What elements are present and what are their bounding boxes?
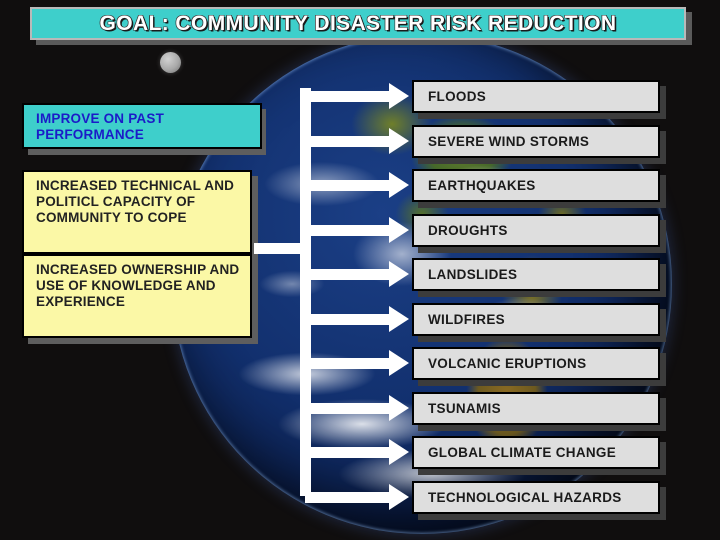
arrow-head-icon [389,172,409,198]
slide-canvas: GOAL: COMMUNITY DISASTER RISK REDUCTION … [0,0,720,540]
hazard-item-droughts[interactable]: DROUGHTS [412,214,660,247]
hazard-item-tsunamis[interactable]: TSUNAMIS [412,392,660,425]
arrow-arm [305,136,390,147]
hazard-item-label: VOLCANIC ERUPTIONS [428,356,586,371]
hazard-item-earthquakes[interactable]: EARTHQUAKES [412,169,660,202]
hazard-item-label: TSUNAMIS [428,401,501,416]
hazard-item-technological-hazards[interactable]: TECHNOLOGICAL HAZARDS [412,481,660,514]
arrow-arm [305,403,390,414]
arrow-tree-trunk [300,88,311,496]
hazard-item-floods[interactable]: FLOODS [412,80,660,113]
arrow-head-icon [389,128,409,154]
hazard-item-volcanic-eruptions[interactable]: VOLCANIC ERUPTIONS [412,347,660,380]
arrow-arm [305,91,390,102]
moon [160,52,181,73]
hazard-item-label: GLOBAL CLIMATE CHANGE [428,445,616,460]
arrow-arm [305,447,390,458]
hazard-item-label: EARTHQUAKES [428,178,536,193]
arrow-arm [305,269,390,280]
hazard-item-label: DROUGHTS [428,223,508,238]
arrow-head-icon [389,217,409,243]
arrow-head-icon [389,439,409,465]
outcome-box-2: INCREASED OWNERSHIP AND USE OF KNOWLEDGE… [22,254,252,338]
outcome-box-2-text: INCREASED OWNERSHIP AND USE OF KNOWLEDGE… [36,262,241,309]
arrow-head-icon [389,306,409,332]
outcome-box-1-text: INCREASED TECHNICAL AND POLITICL CAPACIT… [36,178,241,225]
arrow-head-icon [389,395,409,421]
arrow-head-icon [389,83,409,109]
hazard-item-global-climate-change[interactable]: GLOBAL CLIMATE CHANGE [412,436,660,469]
hazard-item-label: LANDSLIDES [428,267,517,282]
hazard-item-wildfires[interactable]: WILDFIRES [412,303,660,336]
hazard-item-label: TECHNOLOGICAL HAZARDS [428,490,622,505]
arrow-arm [305,314,390,325]
page-title: GOAL: COMMUNITY DISASTER RISK REDUCTION [30,7,686,40]
hazard-item-label: SEVERE WIND STORMS [428,134,589,149]
arrow-head-icon [389,350,409,376]
hazard-item-label: FLOODS [428,89,486,104]
highlight-box-text: IMPROVE ON PAST PERFORMANCE [36,111,251,143]
hazard-item-label: WILDFIRES [428,312,505,327]
arrow-arm [305,180,390,191]
arrow-head-icon [389,261,409,287]
hazard-item-landslides[interactable]: LANDSLIDES [412,258,660,291]
arrow-head-icon [389,484,409,510]
arrow-arm [305,492,390,503]
outcome-box-1: INCREASED TECHNICAL AND POLITICL CAPACIT… [22,170,252,254]
arrow-arm [305,225,390,236]
hazard-item-severe-wind-storms[interactable]: SEVERE WIND STORMS [412,125,660,158]
arrow-tree-stub [254,243,306,254]
page-title-text: GOAL: COMMUNITY DISASTER RISK REDUCTION [100,12,617,36]
highlight-box: IMPROVE ON PAST PERFORMANCE [22,103,262,149]
arrow-arm [305,358,390,369]
